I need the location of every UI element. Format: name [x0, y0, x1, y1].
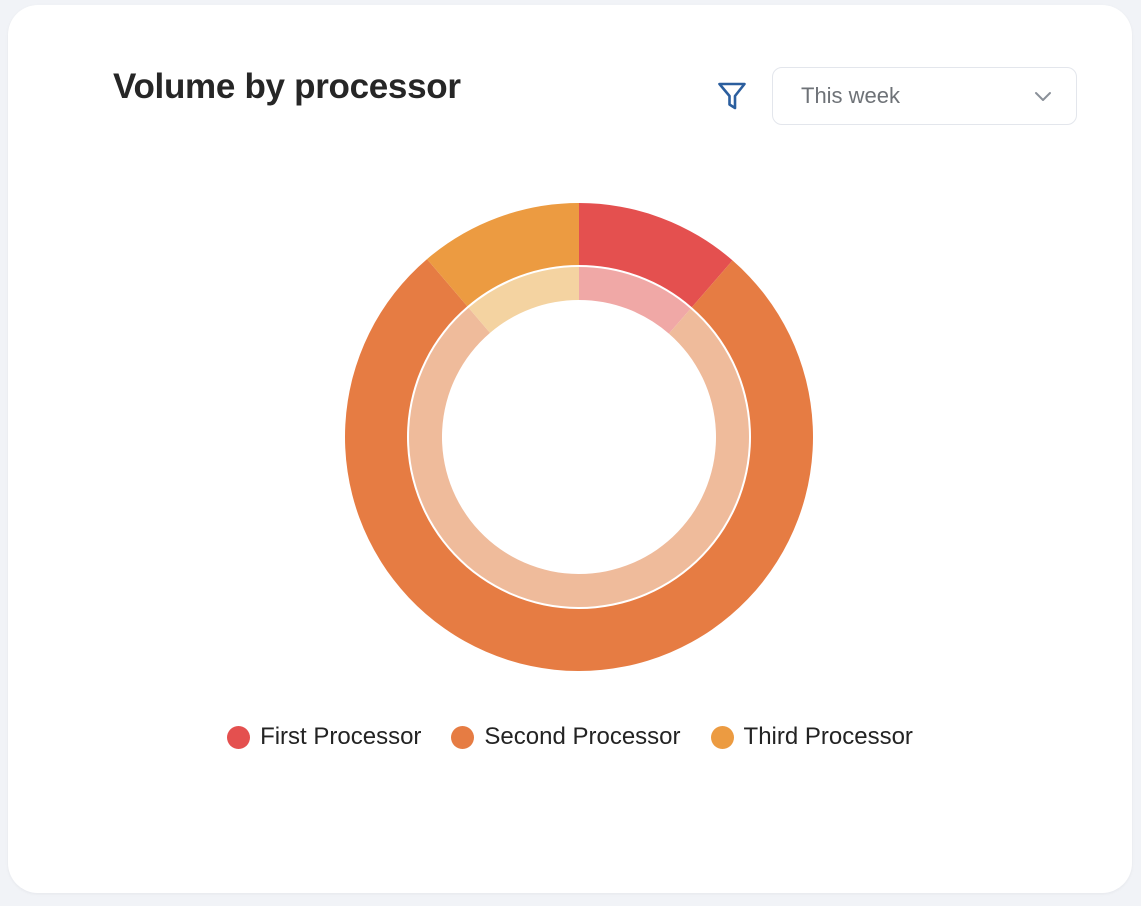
filter-funnel-icon[interactable]: [717, 80, 747, 112]
page-title: Volume by processor: [113, 67, 461, 107]
chart-legend: First Processor Second Processor Third P…: [8, 723, 1132, 751]
card-header: Volume by processor This week: [8, 5, 1132, 145]
legend-label-second-processor: Second Processor: [484, 723, 680, 751]
donut-chart: [339, 197, 819, 677]
legend-swatch-third-processor: [711, 726, 734, 749]
legend-item-second-processor[interactable]: Second Processor: [451, 723, 680, 751]
legend-label-first-processor: First Processor: [260, 723, 421, 751]
chevron-down-icon: [1032, 85, 1054, 107]
volume-by-processor-card: Volume by processor This week: [8, 5, 1132, 893]
legend-swatch-second-processor: [451, 726, 474, 749]
period-select-value: This week: [801, 83, 900, 109]
legend-swatch-first-processor: [227, 726, 250, 749]
donut-chart-area: [8, 145, 1132, 715]
period-select[interactable]: This week: [772, 67, 1077, 125]
legend-item-first-processor[interactable]: First Processor: [227, 723, 421, 751]
legend-item-third-processor[interactable]: Third Processor: [711, 723, 913, 751]
header-controls: This week: [717, 67, 1077, 125]
legend-label-third-processor: Third Processor: [744, 723, 913, 751]
